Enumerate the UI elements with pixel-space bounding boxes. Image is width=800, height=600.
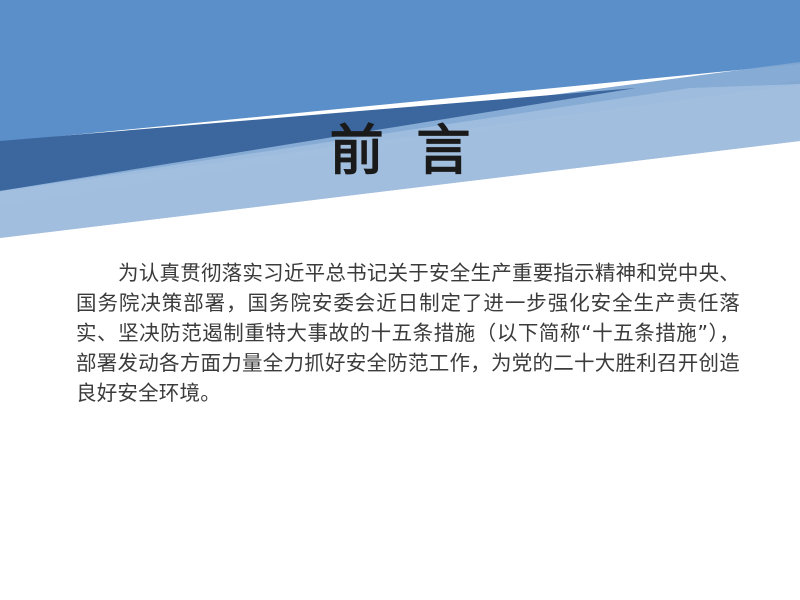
body-paragraph: 为认真贯彻落实习近平总书记关于安全生产重要指示精神和党中央、国务院决策部署，国务…: [76, 258, 740, 408]
slide-canvas: 前 言 为认真贯彻落实习近平总书记关于安全生产重要指示精神和党中央、国务院决策部…: [0, 0, 800, 600]
banner-graphic: [0, 0, 800, 240]
banner-shape-primary-blue-top: [0, 0, 800, 1]
body-text-block: 为认真贯彻落实习近平总书记关于安全生产重要指示精神和党中央、国务院决策部署，国务…: [76, 258, 740, 408]
decorative-banner: [0, 0, 800, 240]
